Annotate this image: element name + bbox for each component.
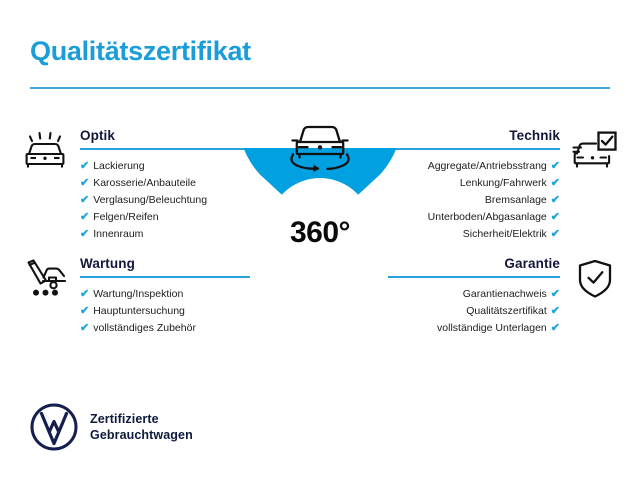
car-service-pen-icon bbox=[22, 258, 68, 300]
list-item: Qualitätszertifikat✔ bbox=[388, 303, 560, 320]
check-icon: ✔ bbox=[551, 212, 560, 223]
checklist-optik: ✔Lackierung ✔Karosserie/Anbauteile ✔Verg… bbox=[80, 158, 252, 243]
car-shine-icon bbox=[22, 130, 68, 172]
list-item-label: Garantienachweis bbox=[463, 286, 547, 303]
section-garantie: Garantie Garantienachweis✔ Qualitätszert… bbox=[388, 256, 618, 337]
list-item-label: Sicherheit/Elektrik bbox=[463, 226, 547, 243]
list-item-label: Wartung/Inspektion bbox=[93, 286, 183, 303]
check-icon: ✔ bbox=[80, 289, 89, 300]
check-icon: ✔ bbox=[80, 195, 89, 206]
section-divider bbox=[388, 276, 560, 278]
check-icon: ✔ bbox=[80, 323, 89, 334]
section-divider bbox=[388, 148, 560, 150]
list-item-label: Lackierung bbox=[93, 158, 144, 175]
section-wartung: Wartung ✔Wartung/Inspektion ✔Hauptunters… bbox=[22, 256, 252, 337]
list-item: ✔vollständiges Zubehör bbox=[80, 320, 252, 337]
check-icon: ✔ bbox=[551, 229, 560, 240]
list-item: vollständige Unterlagen✔ bbox=[388, 320, 560, 337]
list-item: Garantienachweis✔ bbox=[388, 286, 560, 303]
car-rotation-icon bbox=[284, 116, 356, 172]
badge-center-label: 360° bbox=[238, 216, 402, 250]
title-divider bbox=[30, 87, 610, 89]
section-technik: Technik Aggregate/Antriebsstrang✔ Lenkun… bbox=[388, 128, 618, 243]
list-item-label: Aggregate/Antriebsstrang bbox=[428, 158, 547, 175]
list-item: Lenkung/Fahrwerk✔ bbox=[388, 175, 560, 192]
shield-check-icon bbox=[572, 258, 618, 300]
check-icon: ✔ bbox=[551, 306, 560, 317]
section-optik: Optik ✔Lackierung ✔Karosserie/Anbauteile… bbox=[22, 128, 252, 243]
list-item: Aggregate/Antriebsstrang✔ bbox=[388, 158, 560, 175]
checklist-garantie: Garantienachweis✔ Qualitätszertifikat✔ v… bbox=[388, 286, 560, 337]
list-item: ✔Lackierung bbox=[80, 158, 252, 175]
list-item: Bremsanlage✔ bbox=[388, 192, 560, 209]
section-heading: Optik bbox=[80, 128, 252, 143]
section-heading: Garantie bbox=[388, 256, 560, 271]
checklist-technik: Aggregate/Antriebsstrang✔ Lenkung/Fahrwe… bbox=[388, 158, 560, 243]
list-item-label: vollständige Unterlagen bbox=[437, 320, 547, 337]
footer-line-1: Zertifizierte bbox=[90, 411, 193, 427]
list-item: ✔Hauptuntersuchung bbox=[80, 303, 252, 320]
check-icon: ✔ bbox=[551, 178, 560, 189]
check-icon: ✔ bbox=[80, 229, 89, 240]
list-item: ✔Verglasung/Beleuchtung bbox=[80, 192, 252, 209]
list-item: ✔Wartung/Inspektion bbox=[80, 286, 252, 303]
page-title: Qualitätszertifikat bbox=[30, 36, 251, 67]
list-item-label: Verglasung/Beleuchtung bbox=[93, 192, 207, 209]
list-item-label: Karosserie/Anbauteile bbox=[93, 175, 196, 192]
section-divider bbox=[80, 148, 250, 150]
list-item: ✔Karosserie/Anbauteile bbox=[80, 175, 252, 192]
check-icon: ✔ bbox=[80, 178, 89, 189]
list-item: ✔Innenraum bbox=[80, 226, 252, 243]
check-icon: ✔ bbox=[80, 306, 89, 317]
section-heading: Wartung bbox=[80, 256, 252, 271]
footer-branding: Zertifizierte Gebrauchtwagen bbox=[30, 403, 193, 451]
list-item: Unterboden/Abgasanlage✔ bbox=[388, 209, 560, 226]
section-divider bbox=[80, 276, 250, 278]
check-icon: ✔ bbox=[551, 289, 560, 300]
footer-text: Zertifizierte Gebrauchtwagen bbox=[90, 411, 193, 443]
volkswagen-logo bbox=[30, 403, 78, 451]
list-item-label: Felgen/Reifen bbox=[93, 209, 158, 226]
list-item: Sicherheit/Elektrik✔ bbox=[388, 226, 560, 243]
section-heading: Technik bbox=[388, 128, 560, 143]
check-icon: ✔ bbox=[551, 323, 560, 334]
check-icon: ✔ bbox=[551, 161, 560, 172]
list-item-label: Unterboden/Abgasanlage bbox=[428, 209, 547, 226]
certificate-page: Qualitätszertifikat bbox=[0, 0, 640, 480]
list-item-label: Hauptuntersuchung bbox=[93, 303, 185, 320]
list-item-label: Lenkung/Fahrwerk bbox=[460, 175, 547, 192]
check-icon: ✔ bbox=[80, 212, 89, 223]
check-icon: ✔ bbox=[80, 161, 89, 172]
list-item-label: Qualitätszertifikat bbox=[466, 303, 547, 320]
car-checkbox-icon bbox=[572, 130, 618, 172]
list-item: ✔Felgen/Reifen bbox=[80, 209, 252, 226]
list-item-label: vollständiges Zubehör bbox=[93, 320, 196, 337]
checklist-wartung: ✔Wartung/Inspektion ✔Hauptuntersuchung ✔… bbox=[80, 286, 252, 337]
footer-line-2: Gebrauchtwagen bbox=[90, 427, 193, 443]
check-icon: ✔ bbox=[551, 195, 560, 206]
list-item-label: Innenraum bbox=[93, 226, 143, 243]
list-item-label: Bremsanlage bbox=[485, 192, 547, 209]
